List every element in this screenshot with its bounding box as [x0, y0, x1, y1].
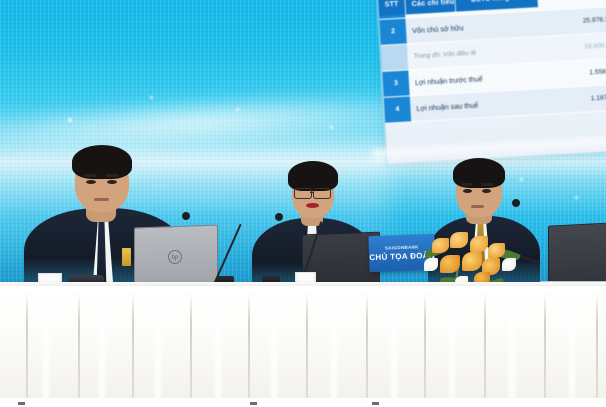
- panelist-left-name-badge: [122, 248, 131, 266]
- skirt-pleat: [424, 292, 426, 407]
- row-value: 25.978.130: [537, 7, 606, 37]
- panelist-center-glasses-right: [313, 188, 331, 199]
- skirt-fold: [152, 292, 164, 407]
- led-sparkle-2: [150, 96, 153, 99]
- skirt-pleat: [78, 292, 80, 407]
- skirt-fold: [328, 292, 340, 407]
- panelist-center-glasses-bridge: [310, 192, 314, 193]
- skirt-pleat: [484, 292, 486, 407]
- flower-white-1: [424, 258, 438, 271]
- skirt-fold: [446, 292, 458, 407]
- placard-bank-logo: SAIGONBANK: [385, 244, 419, 250]
- panelist-left-eye-right: [107, 180, 117, 184]
- led-sparkle-4: [330, 126, 333, 129]
- panelist-left-hair: [72, 145, 132, 179]
- flower-orange-5: [440, 255, 460, 273]
- skirt-pleat: [544, 292, 546, 407]
- header-indicator: Các chỉ tiêu: [404, 0, 456, 15]
- flower-orange-3: [470, 236, 488, 252]
- panelist-center-glasses-left: [294, 188, 312, 199]
- flower-orange-6: [462, 252, 482, 271]
- skirt-pleat: [366, 292, 368, 407]
- panelist-left-mouth: [94, 198, 109, 201]
- row-stt: 4: [384, 96, 411, 122]
- panelist-right-brow-right: [481, 183, 493, 186]
- row-stt: 3: [382, 70, 409, 96]
- skirt-fold: [268, 292, 280, 407]
- hp-logo-icon: hp: [168, 250, 182, 264]
- panelist-right-eye-right: [482, 189, 491, 193]
- panelist-left-brow-right: [106, 174, 119, 177]
- panelist-left-eye-left: [86, 180, 96, 184]
- flower-orange-2: [450, 232, 468, 248]
- skirt-pleat: [248, 292, 250, 407]
- laptop-right-lid: [548, 222, 606, 287]
- flower-orange-1: [432, 238, 449, 253]
- panelist-right-eye-left: [463, 189, 472, 193]
- skirt-fold: [212, 292, 224, 407]
- skirt-fold: [96, 292, 108, 407]
- skirt-pleat: [26, 292, 28, 407]
- photograph-canvas: STT Các chỉ tiêu BCTC riêng lẻ 1 Tổng tà…: [0, 0, 606, 407]
- row-value: 19.600.100: [539, 33, 606, 63]
- led-sparkle-6: [520, 178, 523, 181]
- panelist-right-brow-left: [461, 183, 473, 186]
- header-stt: STT: [378, 0, 405, 16]
- row-stt: 2: [379, 19, 406, 45]
- skirt-fold: [40, 292, 52, 407]
- panelist-right-mouth: [471, 205, 484, 208]
- panelist-left-brow-left: [84, 174, 97, 177]
- skirt-fold: [388, 292, 400, 407]
- skirt-fold: [506, 292, 518, 407]
- led-sparkle-7: [575, 196, 578, 199]
- panelist-center-lips: [306, 203, 319, 208]
- microphone-left-head: [182, 212, 190, 220]
- row-stt: [381, 44, 408, 70]
- flower-white-2: [502, 258, 516, 271]
- microphone-right-head: [512, 199, 520, 207]
- skirt-pleat: [132, 292, 134, 407]
- flower-orange-4: [488, 243, 505, 258]
- panelist-center-hair: [288, 161, 338, 191]
- bottom-artifact-1: [18, 402, 25, 405]
- skirt-pleat: [190, 292, 192, 407]
- led-sparkle-3: [236, 108, 239, 111]
- bottom-artifact-2: [250, 402, 257, 405]
- row-value: 1.187.001: [542, 84, 606, 114]
- led-sparkle-1: [68, 118, 72, 122]
- row-value: 1.558.857: [540, 58, 606, 88]
- microphone-center-head: [275, 213, 283, 221]
- skirt-pleat: [306, 292, 308, 407]
- bottom-artifact-3: [372, 402, 379, 405]
- financial-summary-table: STT Các chỉ tiêu BCTC riêng lẻ 1 Tổng tà…: [378, 0, 606, 124]
- skirt-pleat: [596, 292, 598, 407]
- image-bottom-edge: [0, 398, 606, 407]
- skirt-fold: [566, 292, 578, 407]
